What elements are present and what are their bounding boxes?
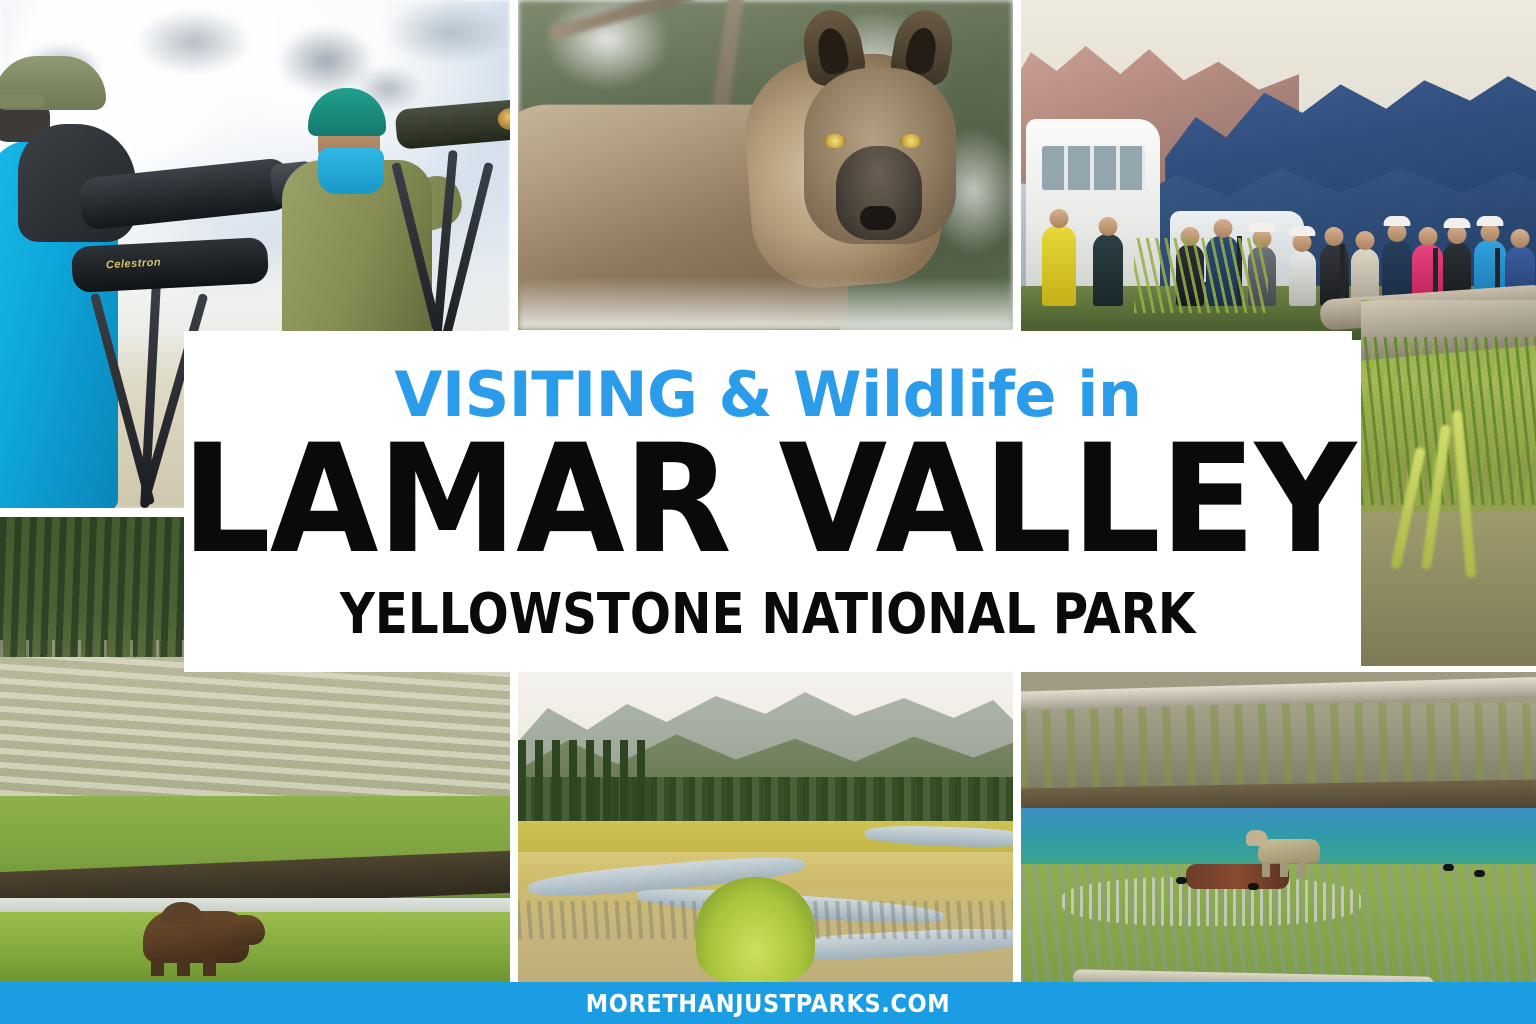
website-url[interactable]: MORETHANJUSTPARKS.COM (586, 989, 950, 1018)
person-white-jacket (1289, 250, 1316, 306)
white-hat (1383, 216, 1410, 226)
poster-canvas: Celestron (0, 0, 1536, 1024)
white-hat (1477, 216, 1504, 226)
white-hat (1289, 226, 1316, 236)
wolf-eye-right (900, 134, 922, 148)
raven (1443, 864, 1454, 871)
dirt-ground (1361, 512, 1536, 666)
page-title: LAMAR VALLEY (181, 430, 1355, 571)
wolf (1258, 839, 1320, 863)
green-grass (1361, 337, 1536, 505)
willow-bush (696, 877, 815, 982)
grizzly-bear (143, 911, 249, 963)
snow-foreground (518, 277, 1013, 330)
photo-wolf-at-carcass (1021, 672, 1536, 982)
raven (1176, 877, 1187, 884)
neck-gaiter (318, 148, 384, 194)
subtitle: YELLOWSTONE NATIONAL PARK (340, 587, 1196, 643)
footer-bar: MORETHANJUSTPARKS.COM (0, 982, 1536, 1024)
spotting-scope (1340, 244, 1345, 306)
white-hat (1248, 222, 1275, 232)
photo-wolf-watching-crowd (1021, 0, 1536, 340)
dark-cap (1444, 218, 1471, 228)
person-dark-jacket (1093, 234, 1123, 306)
crowd-of-watchers (1021, 156, 1536, 306)
photo-grass-and-log (1361, 300, 1536, 666)
wolf-nose (860, 206, 896, 230)
photo-lamar-river-valley (518, 672, 1013, 982)
person-yellow-jacket (1042, 226, 1076, 306)
title-card: VISITING & Wildlife in LAMAR VALLEY YELL… (184, 331, 1352, 672)
tall-grass (1134, 238, 1268, 313)
wolf-eye-left (824, 134, 846, 148)
raven (1474, 870, 1485, 877)
photo-gray-wolf-portrait (518, 0, 1013, 330)
scope-brand-mark: Celestron (106, 256, 162, 271)
raven (1248, 883, 1259, 890)
